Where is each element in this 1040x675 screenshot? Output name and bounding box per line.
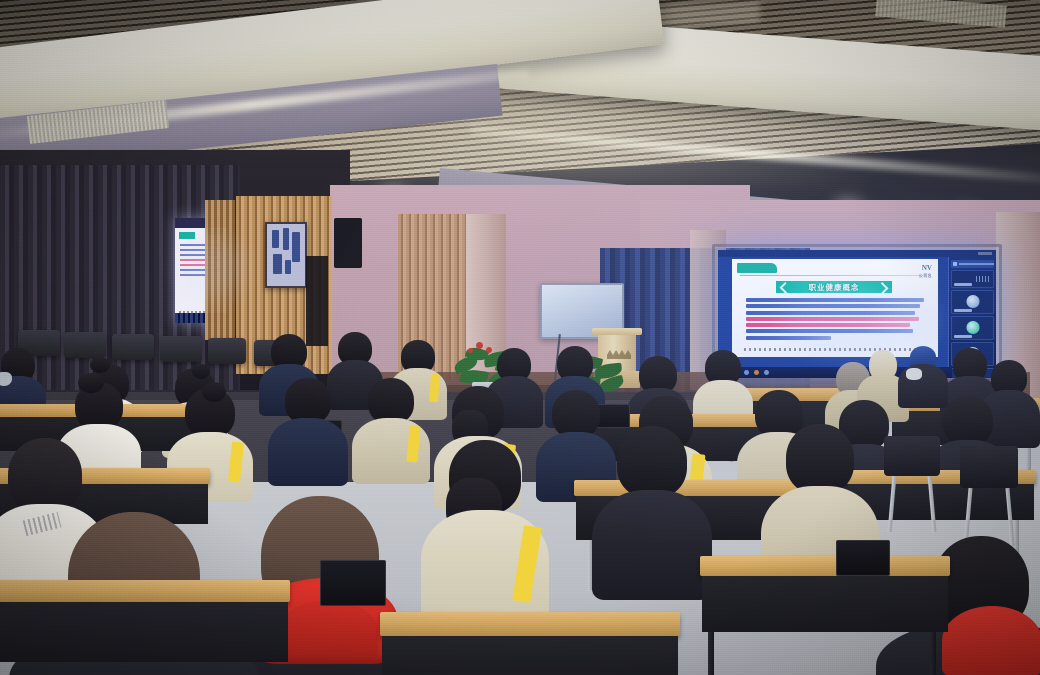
wall-speaker <box>334 218 362 268</box>
attendee <box>272 378 344 474</box>
attendee <box>430 440 540 592</box>
attendee-head <box>8 438 82 514</box>
participant-tile[interactable] <box>951 270 994 288</box>
lectern-top <box>592 328 642 335</box>
desk-leg <box>708 632 714 675</box>
red-hood-inner <box>278 600 378 662</box>
red-hood <box>942 606 1040 675</box>
slide-logo-text: NV <box>922 264 932 272</box>
empty-chair <box>64 332 106 358</box>
chair-back <box>960 446 1018 488</box>
presentation-app-titlebar <box>718 250 996 257</box>
desk-front-panel <box>382 636 678 675</box>
chat-icon[interactable] <box>764 370 769 375</box>
people-icon <box>953 262 957 266</box>
avatar <box>966 321 979 334</box>
slide-logo: NV 公司名 <box>906 265 932 277</box>
chair-back <box>884 436 940 476</box>
photo-scene: NV 公司名 职业健康概念 <box>0 0 1040 675</box>
wood-slat-foreground <box>205 200 235 340</box>
flower-icon <box>468 348 473 353</box>
wall-dark-recess <box>306 256 328 346</box>
desk-row-1-center <box>380 612 680 675</box>
attendee <box>356 378 426 472</box>
attendee-head <box>943 396 993 446</box>
attendee-head <box>617 426 687 498</box>
desk-top <box>380 612 680 636</box>
slide-decoration-tab <box>737 263 777 273</box>
slide-decoration-line <box>740 275 920 276</box>
attendee-body <box>592 490 712 600</box>
attendee-body <box>268 418 348 486</box>
empty-chair <box>160 336 202 362</box>
hair-bun <box>192 364 210 379</box>
empty-chair <box>208 338 246 364</box>
wall-framed-poster <box>265 222 307 288</box>
face-mask-icon <box>906 368 922 380</box>
uniform-stripe <box>429 374 440 403</box>
desk-top <box>700 556 950 576</box>
desk-top <box>0 580 290 602</box>
empty-chair <box>112 334 154 360</box>
slide-logo-subtext: 公司名 <box>906 272 932 279</box>
participant-name-label <box>954 335 972 338</box>
attendee-head <box>552 390 600 438</box>
slide-body-text <box>746 298 924 342</box>
participant-panel-header <box>951 260 994 268</box>
slide-title: 职业健康概念 <box>776 281 892 293</box>
desk-front-panel <box>702 576 948 632</box>
audio-wave-icon <box>976 276 990 282</box>
avatar <box>966 295 979 308</box>
hair-bun <box>78 373 104 393</box>
attendee-head <box>786 424 854 494</box>
media-icon[interactable] <box>754 370 759 375</box>
tablet-device <box>320 560 386 606</box>
flower-icon <box>476 342 483 349</box>
desk-row-1-left <box>0 580 290 640</box>
desk-row-1-right <box>700 556 950 612</box>
participant-name-label <box>954 283 972 286</box>
participant-tile[interactable] <box>951 316 994 340</box>
desk-leg <box>930 632 936 675</box>
tablet-device <box>836 540 890 576</box>
attendee <box>600 426 704 574</box>
desk-front-panel <box>0 602 288 662</box>
hair-bun <box>90 357 110 373</box>
slide-deco-tab <box>179 232 195 239</box>
presentation-slide: NV 公司名 职业健康概念 <box>732 259 938 357</box>
chair <box>960 446 1018 488</box>
hair-bun <box>202 382 226 402</box>
participant-tile[interactable] <box>951 290 994 314</box>
participant-name-label <box>954 309 972 312</box>
chair <box>884 436 940 476</box>
